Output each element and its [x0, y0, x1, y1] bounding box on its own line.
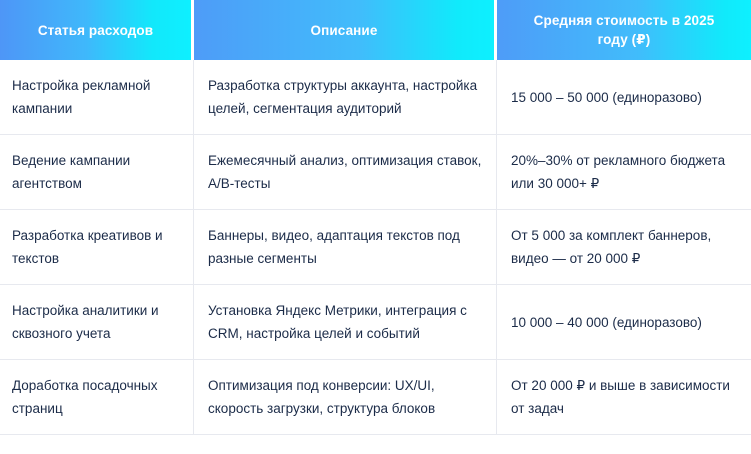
cell-description: Ежемесячный анализ, оптимизация ставок, … — [194, 135, 497, 210]
table-row: Настройка рекламной кампании Разработка … — [0, 60, 751, 135]
expense-cost-table: Статья расходов Описание Средняя стоимос… — [0, 0, 751, 435]
column-header-average-cost-line1: Средняя стоимость в 2025 — [507, 11, 741, 30]
cell-expense-item: Доработка посадочных страниц — [0, 360, 194, 435]
cell-expense-item: Разработка креативов и текстов — [0, 210, 194, 285]
cell-average-cost: 20%–30% от рекламного бюджета или 30 000… — [497, 135, 751, 210]
cost-table-container: Статья расходов Описание Средняя стоимос… — [0, 0, 751, 454]
cell-expense-item: Ведение кампании агентством — [0, 135, 194, 210]
table-header: Статья расходов Описание Средняя стоимос… — [0, 0, 751, 60]
cell-average-cost: От 20 000 ₽ и выше в зависимости от зада… — [497, 360, 751, 435]
cell-expense-item: Настройка рекламной кампании — [0, 60, 194, 135]
column-header-average-cost-line2: году (₽) — [507, 30, 741, 49]
header-row: Статья расходов Описание Средняя стоимос… — [0, 0, 751, 60]
cell-description: Баннеры, видео, адаптация текстов под ра… — [194, 210, 497, 285]
cell-description: Установка Яндекс Метрики, интеграция с C… — [194, 285, 497, 360]
table-body: Настройка рекламной кампании Разработка … — [0, 60, 751, 435]
cell-average-cost: 15 000 – 50 000 (единоразово) — [497, 60, 751, 135]
cell-expense-item: Настройка аналитики и сквозного учета — [0, 285, 194, 360]
table-row: Доработка посадочных страниц Оптимизация… — [0, 360, 751, 435]
table-row: Ведение кампании агентством Ежемесячный … — [0, 135, 751, 210]
cell-description: Оптимизация под конверсии: UX/UI, скорос… — [194, 360, 497, 435]
cell-description: Разработка структуры аккаунта, настройка… — [194, 60, 497, 135]
column-header-expense-item: Статья расходов — [0, 0, 194, 60]
cell-average-cost: От 5 000 за комплект баннеров, видео — о… — [497, 210, 751, 285]
column-header-description: Описание — [194, 0, 497, 60]
column-header-average-cost: Средняя стоимость в 2025 году (₽) — [497, 0, 751, 60]
table-row: Разработка креативов и текстов Баннеры, … — [0, 210, 751, 285]
table-row: Настройка аналитики и сквозного учета Ус… — [0, 285, 751, 360]
cell-average-cost: 10 000 – 40 000 (единоразово) — [497, 285, 751, 360]
